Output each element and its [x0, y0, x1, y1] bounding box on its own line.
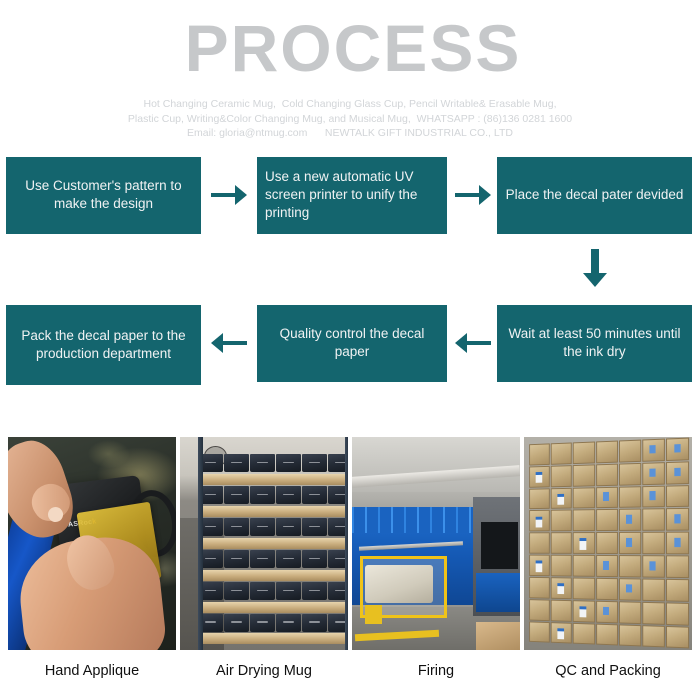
arrow-right-icon: [452, 180, 494, 210]
photo-firing: [352, 437, 520, 650]
flow-step-5-label: Quality control the decal paper: [265, 325, 439, 361]
photo-strip: ASRock: [0, 437, 700, 650]
flow-step-3-label: Place the decal pater devided: [506, 186, 684, 204]
company-info: Hot Changing Ceramic Mug, Cold Changing …: [0, 97, 700, 141]
process-flow-diagram: Use Customer's pattern to make the desig…: [0, 147, 700, 402]
arrow-right-icon: [207, 180, 251, 210]
caption-air-drying-mug: Air Drying Mug: [180, 652, 348, 698]
flow-step-6-label: Pack the decal paper to the production d…: [14, 327, 193, 363]
caption-hand-applique: Hand Applique: [8, 652, 176, 698]
photo-captions: Hand Applique Air Drying Mug Firing QC a…: [0, 652, 700, 698]
company-info-line-1: Hot Changing Ceramic Mug, Cold Changing …: [0, 97, 700, 112]
flow-step-1-label: Use Customer's pattern to make the desig…: [14, 177, 193, 213]
flow-step-2-label: Use a new automatic UV screen printer to…: [265, 168, 439, 222]
photo-qc-and-packing: [524, 437, 692, 650]
flow-step-1: Use Customer's pattern to make the desig…: [6, 157, 201, 234]
flow-step-3: Place the decal pater devided: [497, 157, 692, 234]
flow-step-2: Use a new automatic UV screen printer to…: [257, 157, 447, 234]
arrow-left-icon: [452, 328, 494, 358]
photo-air-drying-mug: [180, 437, 348, 650]
company-info-line-2: Plastic Cup, Writing&Color Changing Mug,…: [0, 112, 700, 127]
company-info-line-3: Email: gloria@ntmug.com NEWTALK GIFT IND…: [0, 126, 700, 141]
flow-step-5: Quality control the decal paper: [257, 305, 447, 382]
photo-hand-applique: ASRock: [8, 437, 176, 650]
flow-step-4: Wait at least 50 minutes until the ink d…: [497, 305, 692, 382]
arrow-down-icon: [573, 246, 617, 290]
page-title: PROCESS: [0, 8, 700, 88]
flow-step-6: Pack the decal paper to the production d…: [6, 305, 201, 385]
arrow-left-icon: [207, 328, 251, 358]
flow-step-4-label: Wait at least 50 minutes until the ink d…: [505, 325, 684, 361]
caption-qc-and-packing: QC and Packing: [524, 652, 692, 698]
caption-firing: Firing: [352, 652, 520, 698]
header: PROCESS Hot Changing Ceramic Mug, Cold C…: [0, 0, 700, 141]
